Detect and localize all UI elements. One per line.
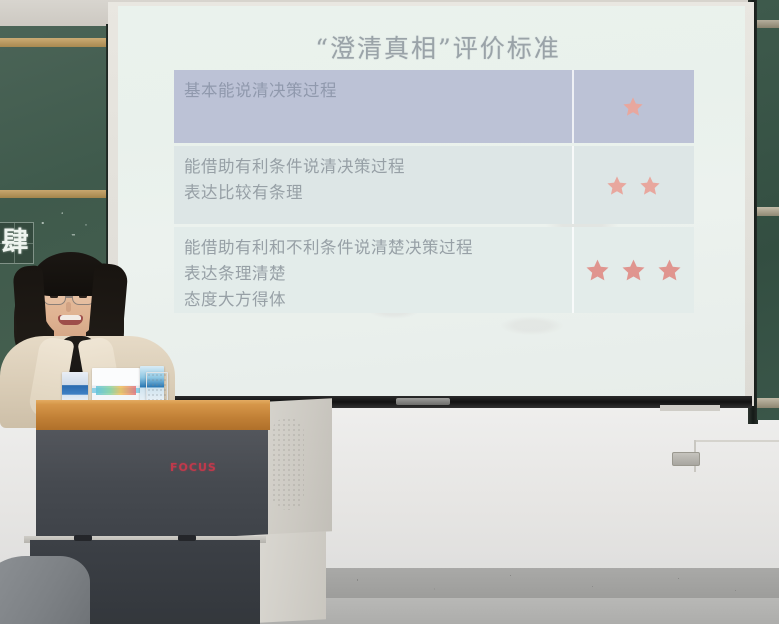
- rubric-criteria-cell: 能借助有利条件说清决策过程 表达比较有条理: [174, 146, 572, 224]
- nose: [66, 302, 71, 312]
- podium-body: [36, 430, 268, 537]
- classroom-scene: 肆 “澄清真相”评价标准 基本能说清决策过程: [0, 0, 779, 624]
- rubric-criteria-cell: 基本能说清决策过程: [174, 70, 572, 143]
- chalkboard-right-rail-middle: [757, 207, 779, 216]
- podium-hinge-left: [74, 535, 92, 541]
- seated-person-silhouette: [0, 556, 90, 624]
- chalkboard-right-rail-bottom: [757, 398, 779, 408]
- teeth: [60, 315, 81, 320]
- star-icon: [606, 175, 628, 196]
- column-divider: [572, 146, 574, 224]
- baseboard: [300, 568, 779, 598]
- eyeglass-bridge: [66, 296, 73, 298]
- column-divider: [572, 70, 574, 143]
- rubric-line: 能借助有利条件说清决策过程: [184, 154, 572, 180]
- star-icon: [622, 96, 644, 117]
- mouth: [58, 315, 83, 325]
- chalkboard-right-rail-top: [757, 20, 779, 28]
- star-icon: [585, 258, 610, 282]
- table-row: 能借助有利和不利条件说清楚决策过程 表达条理清楚 态度大方得体: [174, 227, 694, 313]
- rubric-star-cell: [572, 70, 694, 143]
- chalk-dust-marks: [30, 205, 100, 250]
- wall-fixture: [672, 452, 700, 466]
- star-icon: [657, 258, 682, 282]
- rubric-criteria-cell: 能借助有利和不利条件说清楚决策过程 表达条理清楚 态度大方得体: [174, 227, 572, 313]
- star-icon: [639, 175, 661, 196]
- rubric-star-cell: [572, 146, 694, 224]
- table-row: 基本能说清决策过程: [174, 70, 694, 143]
- star-icon: [621, 258, 646, 282]
- keypad-device: [146, 372, 168, 403]
- slide-title: “澄清真相”评价标准: [238, 34, 638, 64]
- product-box-center: [92, 368, 140, 404]
- slide: “澄清真相”评价标准 基本能说清决策过程: [118, 6, 745, 396]
- podium-top: [36, 404, 270, 430]
- podium-hinge-right: [178, 535, 196, 541]
- podium-brand-logo: FOCUS: [170, 461, 217, 474]
- screen-bracket: [660, 405, 720, 411]
- screen-roller-clip: [396, 398, 450, 405]
- wall-seam: [694, 440, 779, 442]
- rubric-line: 表达条理清楚: [184, 261, 572, 287]
- table-row: 能借助有利条件说清决策过程 表达比较有条理: [174, 146, 694, 224]
- rubric-line: 态度大方得体: [184, 287, 572, 313]
- speaker-grille: [272, 418, 304, 510]
- rubric-line: 表达比较有条理: [184, 180, 572, 206]
- projection-screen: “澄清真相”评价标准 基本能说清决策过程: [118, 6, 745, 396]
- rubric-table: 基本能说清决策过程 能借助有利条件说清决策过程 表达比较有条理: [174, 70, 694, 316]
- rubric-line: 基本能说清决策过程: [184, 78, 572, 104]
- column-divider: [572, 227, 574, 313]
- rubric-star-cell: [572, 227, 694, 313]
- rubric-line: 能借助有利和不利条件说清楚决策过程: [184, 235, 572, 261]
